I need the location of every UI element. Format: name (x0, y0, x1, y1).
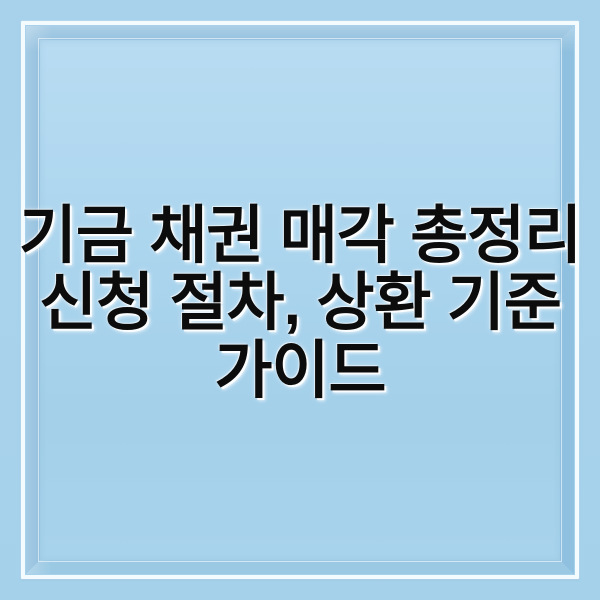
thumbnail-card: 기금 채권 매각 총정리 신청 절차, 상환 기준 가이드 (0, 0, 600, 600)
title-line-1: 기금 채권 매각 총정리 (19, 203, 581, 270)
title-block: 기금 채권 매각 총정리 신청 절차, 상환 기준 가이드 (0, 0, 600, 600)
title-line-3: 가이드 (215, 338, 386, 405)
title-line-2: 신청 절차, 상환 기준 (39, 270, 561, 337)
